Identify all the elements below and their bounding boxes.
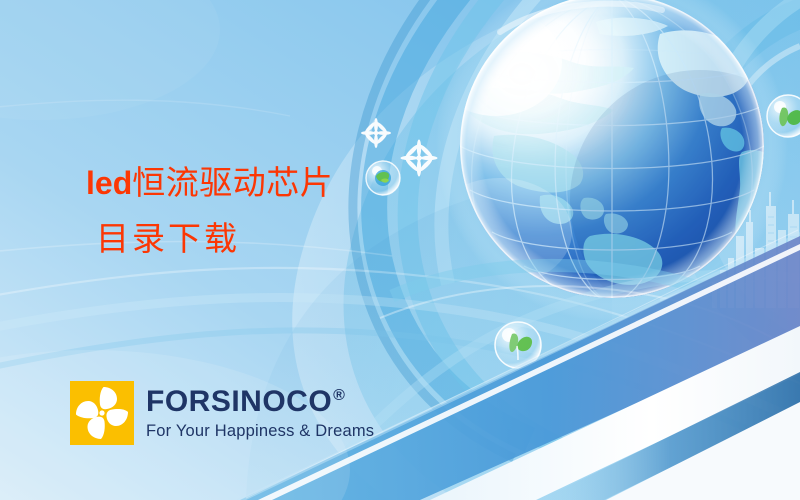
sparkle-star-a (361, 118, 391, 148)
registered-trademark-icon: ® (333, 388, 345, 404)
brand-tagline: For Your Happiness & Dreams (146, 423, 374, 440)
bubble-edge (767, 95, 800, 137)
bubble-sprout (495, 322, 541, 368)
headline-line-1-latin: led (86, 165, 132, 201)
diagonal-bands (236, 230, 800, 500)
headline-text: led恒流驱动芯片 目录下载 (86, 162, 506, 260)
banner-canvas: led恒流驱动芯片 目录下载 (0, 0, 800, 500)
brand-name-text: FORSINOCO (146, 387, 332, 417)
forsinoco-pinwheel-mark (70, 381, 134, 445)
logo-wordmark: FORSINOCO® For Your Happiness & Dreams (146, 387, 374, 440)
company-logo: FORSINOCO® For Your Happiness & Dreams (70, 381, 374, 445)
brand-name: FORSINOCO® (146, 387, 374, 417)
headline-line-1-cjk: 恒流驱动芯片 (132, 163, 333, 202)
headline-line-1: led恒流驱动芯片 (86, 162, 506, 204)
foreground-ribbons (330, 265, 800, 470)
headline-line-2: 目录下载 (96, 218, 506, 260)
city-skyline (660, 192, 799, 312)
